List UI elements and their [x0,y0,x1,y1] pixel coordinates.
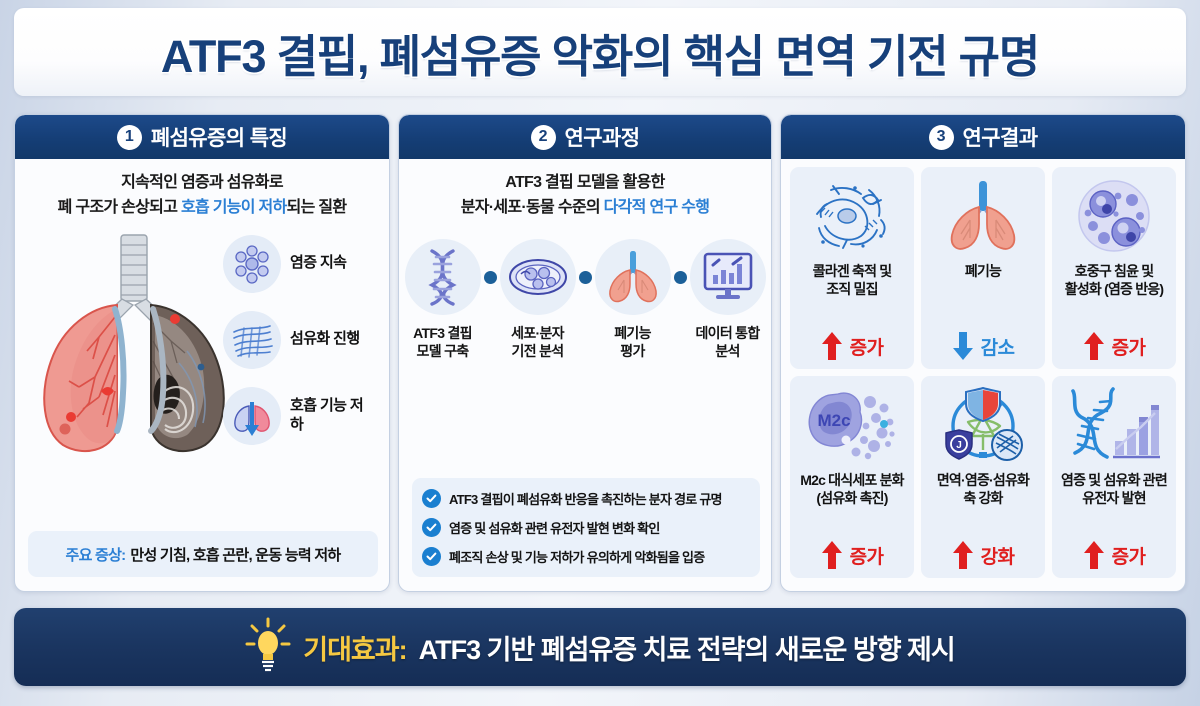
collagen-fibers-icon [811,174,893,258]
panel-2-number-badge: 2 [531,125,556,150]
page-title: ATF3 결핍, 폐섬유증 악화의 핵심 면역 기전 규명 [161,20,1039,85]
footer-label: 기대효과: [303,628,406,667]
lightbulb-icon [245,617,291,678]
result-value: 증가 [850,333,884,360]
arrow-up-icon [821,331,843,361]
result-card-collagen: 콜라겐 축적 및 조직 밀집 증가 [790,167,914,369]
process-step-1-label: ATF3 결핍 모델 구축 [413,324,472,360]
result-indicator: 증가 [1083,331,1146,361]
result-indicator: 증가 [821,331,884,361]
result-value: 강화 [981,542,1015,569]
panel-research-results: 3 연구결과 [780,114,1186,592]
result-value: 증가 [1112,333,1146,360]
lungs-icon [946,174,1020,258]
panel-3-heading: 연구결과 [963,122,1038,152]
feature-label: 호흡 기능 저하 [290,397,375,435]
desc-highlight: 다각적 연구 수행 [604,199,710,216]
immune-axis-icon: J [942,383,1024,467]
footer-banner: 기대효과: ATF3 기반 폐섬유증 치료 전략의 새로운 방향 제시 [14,608,1186,686]
dna-helix-icon [405,239,481,315]
result-label: M2c 대식세포 분화 (섬유화 촉진) [800,472,904,538]
panel-2-header: 2 연구과정 [399,115,771,159]
svg-text:M2c: M2c [817,411,850,430]
check-icon [422,489,441,508]
process-step-2: 세포·분자 기전 분석 [500,239,576,360]
result-card-gene-expression: 염증 및 섬유화 관련 유전자 발현 증가 [1052,376,1176,578]
result-card-neutrophil: 호중구 침윤 및 활성화 (염증 반응) 증가 [1052,167,1176,369]
finding-text: ATF3 결핍이 폐섬유화 반응을 촉진하는 분자 경로 규명 [449,489,722,508]
panel-1-header: 1 폐섬유증의 특징 [15,115,389,159]
panel-research-process: 2 연구과정 ATF3 결핍 모델을 활용한 분자·세포·동물 수준의 다각적 … [398,114,772,592]
check-icon [422,518,441,537]
panel-1-body: 지속적인 염증과 섬유화로 폐 구조가 손상되고 호흡 기능이 저하되는 질환 [15,159,389,463]
result-label: 면역·염증·섬유화 축 강화 [937,472,1029,538]
panel-1-description: 지속적인 염증과 섬유화로 폐 구조가 손상되고 호흡 기능이 저하되는 질환 [27,171,377,221]
feature-item: 섬유화 진행 [223,309,375,371]
result-indicator: 증가 [821,540,884,570]
arrow-up-icon [1083,331,1105,361]
symptom-summary-box: 주요 증상: 만성 기침, 호흡 곤란, 운동 능력 저하 [28,531,378,577]
svg-text:J: J [956,440,962,451]
result-label: 호중구 침윤 및 활성화 (염증 반응) [1065,263,1163,329]
result-card-lung-function: 폐기능 감소 [921,167,1045,369]
lung-decline-icon [223,387,281,445]
lungs-comparison-illustration [29,231,241,463]
feature-item: 염증 지속 [223,233,375,295]
panel-2-body: ATF3 결핍 모델을 활용한 분자·세포·동물 수준의 다각적 연구 수행 [399,159,771,360]
result-value: 감소 [981,333,1015,360]
dna-chart-icon [1067,383,1161,467]
footer-text: ATF3 기반 폐섬유증 치료 전략의 새로운 방향 제시 [419,628,955,667]
fibrosis-fibers-icon [223,311,281,369]
flow-connector-dot [674,271,687,284]
arrow-up-icon [952,540,974,570]
result-label: 폐기능 [965,263,1001,329]
panel-2-desc-line1: ATF3 결핍 모델을 활용한 [411,171,759,196]
arrow-up-icon [1083,540,1105,570]
result-value: 증가 [850,542,884,569]
finding-text: 폐조직 손상 및 기능 저하가 유의하게 악화됨을 입증 [449,547,704,566]
arrow-up-icon [821,540,843,570]
feature-label: 염증 지속 [290,254,346,273]
process-step-1: ATF3 결핍 모델 구축 [405,239,481,360]
panel-1-illustration-area: 염증 지속 섬유화 [27,227,377,463]
panel-2-description: ATF3 결핍 모델을 활용한 분자·세포·동물 수준의 다각적 연구 수행 [411,171,759,221]
symptom-label: 주요 증상: [66,544,126,565]
feature-item: 호흡 기능 저하 [223,385,375,447]
process-step-4-label: 데이터 통합 분석 [695,324,759,360]
research-process-flow: ATF3 결핍 모델 구축 [411,239,759,360]
check-icon [422,547,441,566]
result-card-m2c-macrophage: M2c M2c 대식세포 분화 (섬유화 촉진) [790,376,914,578]
panel-1-desc-line2: 폐 구조가 손상되고 호흡 기능이 저하되는 질환 [27,196,377,221]
page-title-bar: ATF3 결핍, 폐섬유증 악화의 핵심 면역 기전 규명 [14,8,1186,96]
result-indicator: 감소 [952,331,1015,361]
panel-disease-characteristics: 1 폐섬유증의 특징 지속적인 염증과 섬유화로 폐 구조가 손상되고 호흡 기… [14,114,390,592]
finding-item: 폐조직 손상 및 기능 저하가 유의하게 악화됨을 입증 [422,547,750,566]
panel-1-desc-line1: 지속적인 염증과 섬유화로 [27,171,377,196]
process-step-2-label: 세포·분자 기전 분석 [511,324,564,360]
process-step-3: 폐기능 평가 [595,239,671,360]
feature-label: 섬유화 진행 [290,330,360,349]
desc-pre: 분자·세포·동물 수준의 [461,199,604,216]
panel-2-heading: 연구과정 [565,122,640,152]
panel-1-heading: 폐섬유증의 특징 [151,122,287,152]
desc-pre: 폐 구조가 손상되고 [58,199,181,216]
result-indicator: 증가 [1083,540,1146,570]
process-step-4: 데이터 통합 분석 [690,239,766,360]
inflammation-cells-icon [223,235,281,293]
m2c-macrophage-icon: M2c [804,383,900,467]
finding-item: ATF3 결핍이 폐섬유화 반응을 촉진하는 분자 경로 규명 [422,489,750,508]
neutrophil-cells-icon [1076,174,1152,258]
panel-2-desc-line2: 분자·세포·동물 수준의 다각적 연구 수행 [411,196,759,221]
panel-3-number-badge: 3 [929,125,954,150]
result-card-immune-axis: J 면역·염증·섬유화 축 강화 [921,376,1045,578]
result-indicator: 강화 [952,540,1015,570]
desc-highlight: 호흡 기능이 저하 [181,199,287,216]
finding-item: 염증 및 섬유화 관련 유전자 발현 변화 확인 [422,518,750,537]
cell-icon [500,239,576,315]
result-label: 염증 및 섬유화 관련 유전자 발현 [1061,472,1167,538]
research-findings-list: ATF3 결핍이 폐섬유화 반응을 촉진하는 분자 경로 규명 염증 및 섬유화… [412,478,760,577]
symptom-text: 만성 기침, 호흡 곤란, 운동 능력 저하 [130,544,340,565]
flow-connector-dot [484,271,497,284]
result-label: 콜라겐 축적 및 조직 밀집 [813,263,892,329]
finding-text: 염증 및 섬유화 관련 유전자 발현 변화 확인 [449,518,660,537]
arrow-down-icon [952,331,974,361]
lungs-icon [595,239,671,315]
panel-1-feature-list: 염증 지속 섬유화 [223,233,375,447]
results-grid: 콜라겐 축적 및 조직 밀집 증가 [781,159,1185,586]
desc-post: 되는 질환 [287,199,347,216]
process-step-3-label: 폐기능 평가 [614,324,651,360]
chart-monitor-icon [690,239,766,315]
panel-3-header: 3 연구결과 [781,115,1185,159]
panel-1-number-badge: 1 [117,125,142,150]
result-value: 증가 [1112,542,1146,569]
flow-connector-dot [579,271,592,284]
